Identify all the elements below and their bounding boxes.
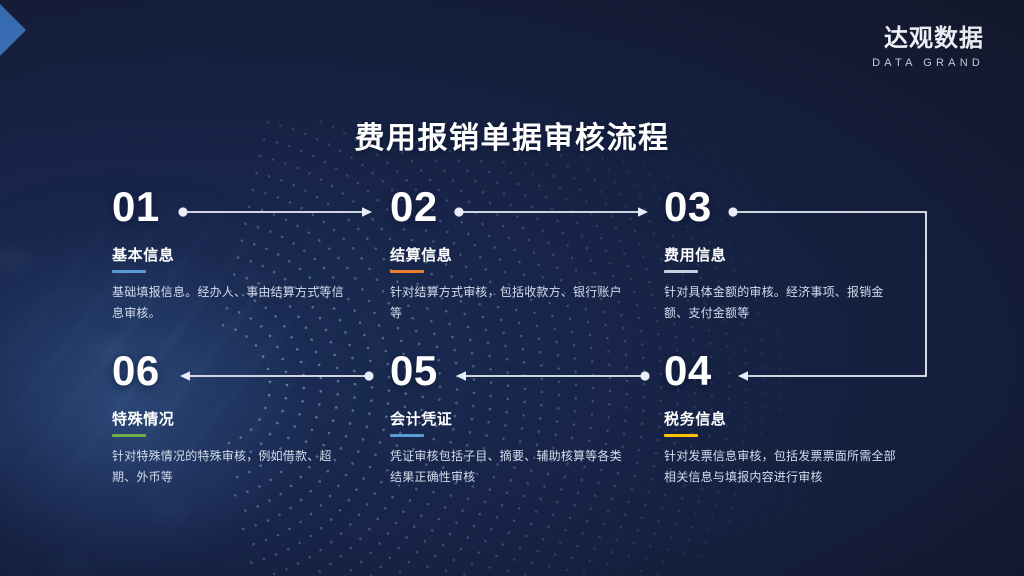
slide-canvas: 达观数据 DATA GRAND 费用报销单据审核流程 01 基本信息 基础填报信… [0,0,1024,576]
background-vignette [0,0,1024,576]
